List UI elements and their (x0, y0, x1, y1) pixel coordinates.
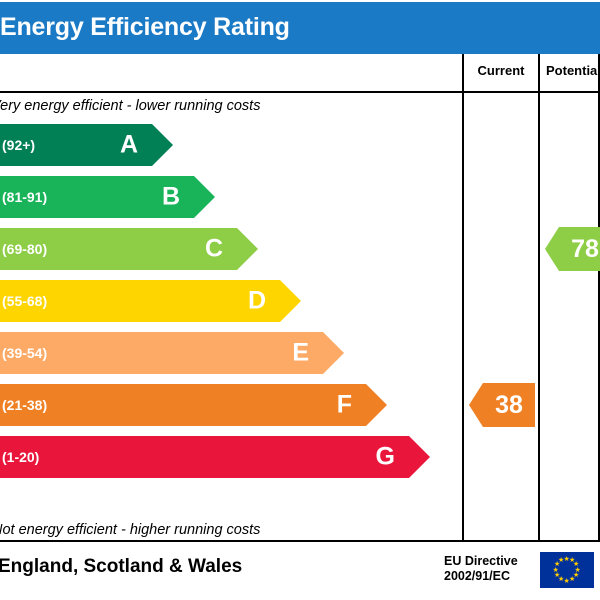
potential-marker-body: 78 (559, 227, 600, 271)
current-marker-tip (469, 383, 483, 427)
band-bar-f: (21-38) F (0, 384, 366, 426)
eu-directive-label: EU Directive 2002/91/EC (444, 554, 518, 584)
eu-flag-icon: ★★★★★★★★★★★★ (540, 552, 594, 588)
current-rating-value: 38 (495, 391, 523, 420)
band-bar-g: (1-20) G (0, 436, 409, 478)
column-separator-current (462, 54, 464, 542)
eu-directive-line1: EU Directive (444, 554, 518, 569)
current-marker-body: 38 (483, 383, 535, 427)
band-range-b: (81-91) (2, 189, 47, 205)
column-separator-potential (538, 54, 540, 542)
band-letter-g: G (376, 443, 395, 472)
column-header-current: Current (464, 63, 538, 78)
band-range-g: (1-20) (2, 449, 39, 465)
band-range-a: (92+) (2, 137, 35, 153)
band-range-d: (55-68) (2, 293, 47, 309)
band-bar-b: (81-91) B (0, 176, 194, 218)
band-letter-c: C (205, 235, 223, 264)
eu-directive-line2: 2002/91/EC (444, 569, 518, 584)
band-range-c: (69-80) (2, 241, 47, 257)
potential-marker-tip (545, 227, 559, 271)
band-bar-e: (39-54) E (0, 332, 323, 374)
caption-efficient: Very energy efficient - lower running co… (0, 98, 260, 114)
band-point-e (323, 332, 344, 374)
band-letter-a: A (120, 131, 138, 160)
band-letter-f: F (337, 391, 352, 420)
band-point-b (194, 176, 215, 218)
caption-inefficient: Not energy efficient - higher running co… (0, 522, 260, 538)
band-range-f: (21-38) (2, 397, 47, 413)
band-point-f (366, 384, 387, 426)
band-point-d (280, 280, 301, 322)
band-point-g (409, 436, 430, 478)
potential-rating-value: 78 (571, 235, 599, 264)
current-rating-marker: 38 (469, 383, 535, 427)
band-range-e: (39-54) (2, 345, 47, 361)
band-point-c (237, 228, 258, 270)
band-bar-a: (92+) A (0, 124, 152, 166)
band-letter-d: D (248, 287, 266, 316)
column-header-potential: Potential (540, 63, 600, 78)
potential-rating-marker: 78 (545, 227, 600, 271)
epc-chart: Energy Efficiency Rating Current Potenti… (0, 0, 600, 600)
column-header-rule (0, 91, 600, 93)
chart-header: Energy Efficiency Rating (0, 2, 600, 54)
band-point-a (152, 124, 173, 166)
chart-footer: England, Scotland & Wales EU Directive 2… (0, 542, 600, 600)
band-letter-b: B (162, 183, 180, 212)
page-title: Energy Efficiency Rating (0, 13, 290, 42)
band-bar-d: (55-68) D (0, 280, 280, 322)
band-bar-c: (69-80) C (0, 228, 237, 270)
region-label: England, Scotland & Wales (0, 556, 242, 578)
band-letter-e: E (292, 339, 309, 368)
